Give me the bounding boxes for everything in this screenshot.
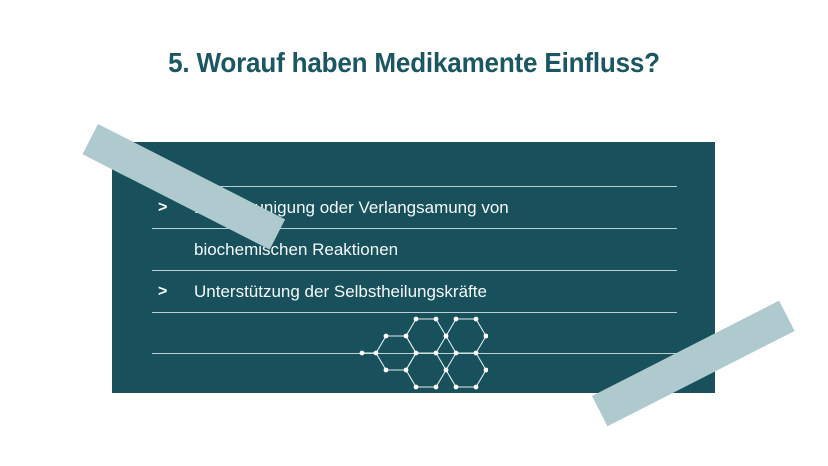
list-item: biochemischen Reaktionen	[152, 228, 677, 270]
hexagon-molecule-icon	[348, 313, 488, 393]
list-item-label: Unterstützung der Selbstheilungskräfte	[194, 282, 487, 302]
page-title: 5. Worauf haben Medikamente Einfluss?	[29, 47, 799, 79]
list-item-label: biochemischen Reaktionen	[194, 240, 398, 260]
chevron-right-icon: >	[152, 283, 194, 301]
list-item: > Unterstützung der Selbstheilungskräfte	[152, 270, 677, 313]
